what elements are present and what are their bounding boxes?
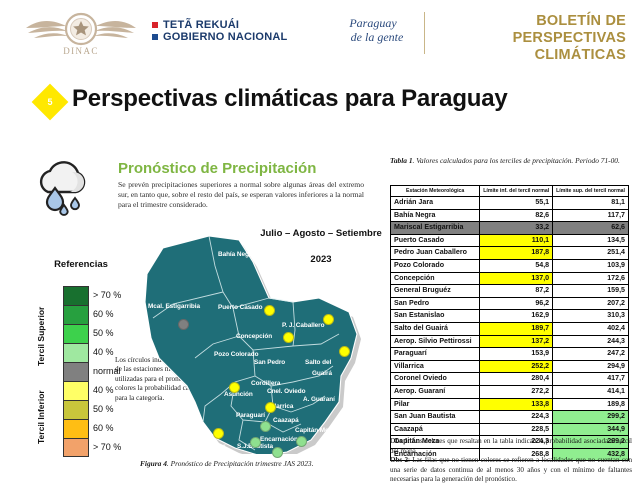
map-label-5: Concepción (236, 333, 272, 340)
flag-square-red-icon (152, 22, 158, 28)
cell-station: Pilar (391, 398, 480, 411)
map-label-17: Capitán Meza (295, 427, 335, 434)
forecast-body-text: Se prevén precipitaciones superiores a n… (118, 180, 364, 211)
legend-swatch-8 (63, 438, 89, 457)
table-row: Coronel Oviedo280,4417,7 (391, 373, 629, 386)
cell-upper-limit: 81,1 (553, 197, 629, 210)
map-label-1: Bahía Negra (218, 251, 255, 258)
cell-lower-limit: 137,2 (480, 335, 553, 348)
table-row: Pozo Colorado54,8103,9 (391, 259, 629, 272)
legend-swatch-3 (63, 343, 89, 362)
cell-lower-limit: 162,9 (480, 310, 553, 323)
table-row: Concepción137,0172,6 (391, 272, 629, 285)
cell-station: Aerop. Guaraní (391, 385, 480, 398)
map-label-10: Cordillera (251, 380, 280, 387)
cell-lower-limit: 252,2 (480, 360, 553, 373)
table-header-row: Estación Meteorológica Límite inf. del t… (391, 186, 629, 197)
cell-upper-limit: 344,9 (553, 423, 629, 436)
cell-station: Adrián Jara (391, 197, 480, 210)
cell-upper-limit: 251,4 (553, 247, 629, 260)
map-station-dot-4 (229, 382, 240, 393)
obs2-label: Obs 2 (390, 456, 408, 464)
legend-label-7: 60 % (93, 419, 121, 438)
cell-station: San Juan Bautista (391, 411, 480, 424)
cell-lower-limit: 228,5 (480, 423, 553, 436)
column-header-station: Estación Meteorológica (391, 186, 480, 197)
tercile-values-table: Estación Meteorológica Límite inf. del t… (390, 185, 629, 461)
column-header-upper-limit: Límite sup. del tercil normal (553, 186, 629, 197)
gov-line-1: TETÃ REKUÁI (163, 19, 239, 31)
table-caption-prefix: Tabla 1 (390, 156, 413, 165)
table-row: San Estanislao162,9310,3 (391, 310, 629, 323)
map-station-dot-1 (323, 314, 334, 325)
obs2-text: : Las filas que no tienen colores se ref… (390, 456, 632, 483)
cell-station: General Bruguéz (391, 285, 480, 298)
legend-label-2: 50 % (93, 324, 121, 343)
map-label-19: Pilar (212, 443, 226, 450)
legend-swatch-0 (63, 286, 89, 305)
dinac-logo: DINAC (18, 6, 144, 64)
map-label-2: Mcal. Estigarribia (148, 303, 200, 310)
cell-upper-limit: 299,2 (553, 411, 629, 424)
cell-upper-limit: 244,3 (553, 335, 629, 348)
table-caption: Tabla 1. Valores calculados para los ter… (390, 156, 632, 166)
cell-lower-limit: 133,8 (480, 398, 553, 411)
table-row: Adrián Jara55,181,1 (391, 197, 629, 210)
cell-station: Pedro Juan Caballero (391, 247, 480, 260)
figure-caption: Figura 4. Pronóstico de Precipitación tr… (140, 459, 390, 468)
map-label-12: Asunción (224, 391, 253, 398)
cell-upper-limit: 62,6 (553, 222, 629, 235)
map-label-16: Caazapá (273, 417, 299, 424)
map-label-3: Puerto Casado (218, 304, 262, 311)
cell-station: San Pedro (391, 297, 480, 310)
cell-station: San Estanislao (391, 310, 480, 323)
brand-line-2: de la gente (330, 30, 416, 44)
legend-swatch-column (63, 286, 89, 457)
table-row: Puerto Casado110,1134,5 (391, 234, 629, 247)
map-station-dot-10 (272, 447, 283, 458)
map-label-8: Salto del (305, 359, 331, 366)
cell-upper-limit: 134,5 (553, 234, 629, 247)
cell-station: Mariscal Estigarribia (391, 222, 480, 235)
table-caption-text: . Valores calculados para los terciles d… (413, 156, 620, 165)
section-title-row: 5 Perspectivas climáticas para Paraguay (0, 84, 633, 120)
cell-upper-limit: 159,5 (553, 285, 629, 298)
table-row: Pilar133,8189,8 (391, 398, 629, 411)
map-label-4: P. J. Caballero (282, 322, 324, 329)
map-station-dot-11 (178, 319, 189, 330)
cell-station: Paraguarí (391, 348, 480, 361)
column-header-lower-limit: Límite inf. del tercil normal (480, 186, 553, 197)
cell-station: Puerto Casado (391, 234, 480, 247)
table-row: Villarrica252,2294,9 (391, 360, 629, 373)
dinac-logo-text: DINAC (18, 46, 144, 56)
cell-station: Aerop. Silvio Pettirossi (391, 335, 480, 348)
cell-station: Caazapá (391, 423, 480, 436)
cell-upper-limit: 417,7 (553, 373, 629, 386)
cell-station: Villarrica (391, 360, 480, 373)
table-observations: Obs 1: Los colores que resaltan en la ta… (390, 437, 632, 485)
map-station-dot-9 (250, 437, 261, 448)
cell-lower-limit: 55,1 (480, 197, 553, 210)
section-badge-number: 5 (37, 89, 63, 115)
figure-caption-prefix: Figura 4 (140, 459, 167, 468)
flag-square-blue-icon (152, 34, 158, 40)
legend-swatch-2 (63, 324, 89, 343)
cell-upper-limit: 189,8 (553, 398, 629, 411)
header-divider (424, 12, 425, 54)
table-row: Paraguarí153,9247,2 (391, 348, 629, 361)
map-label-15: Paraguarí (236, 412, 265, 419)
page-header: DINAC TETÃ REKUÁI GOBIERNO NACIONAL Para… (0, 0, 633, 68)
legend-label-8: > 70 % (93, 438, 121, 457)
cell-lower-limit: 187,8 (480, 247, 553, 260)
cell-station: Salto del Guairá (391, 322, 480, 335)
map-label-13: A. Guaraní (303, 396, 335, 403)
forecast-heading: Pronóstico de Precipitación (118, 160, 316, 177)
obs1-label: Obs 1 (390, 437, 408, 445)
legend-label-0: > 70 % (93, 286, 121, 305)
cell-station: Concepción (391, 272, 480, 285)
map-label-9: Guairá (312, 370, 332, 377)
cell-station: Bahía Negra (391, 209, 480, 222)
map-station-dot-7 (260, 421, 271, 432)
cell-upper-limit: 414,1 (553, 385, 629, 398)
map-label-6: Pozo Colorado (214, 351, 258, 358)
cell-lower-limit: 272,2 (480, 385, 553, 398)
paraguay-forecast-map: Adrián JaraBahía NegraMcal. Estigarribia… (140, 222, 375, 454)
cell-lower-limit: 82,6 (480, 209, 553, 222)
table-row: Salto del Guairá189,7402,4 (391, 322, 629, 335)
cell-lower-limit: 96,2 (480, 297, 553, 310)
cell-upper-limit: 207,2 (553, 297, 629, 310)
gov-line-2: GOBIERNO NACIONAL (163, 31, 287, 43)
figure-caption-text: . Pronóstico de Precipitación trimestre … (167, 459, 314, 468)
table-row: Pedro Juan Caballero187,8251,4 (391, 247, 629, 260)
map-station-dot-3 (339, 346, 350, 357)
legend-group-upper: Tercil Superior (36, 307, 46, 366)
legend-swatch-4 (63, 362, 89, 381)
cell-upper-limit: 103,9 (553, 259, 629, 272)
cell-station: Pozo Colorado (391, 259, 480, 272)
obs1-text: : Los colores que resaltan en la tabla i… (390, 437, 632, 455)
table-row: General Bruguéz87,2159,5 (391, 285, 629, 298)
legend-group-lower: Tercil Inferior (36, 390, 46, 444)
cell-lower-limit: 153,9 (480, 348, 553, 361)
table-row: Mariscal Estigarribia33,262,6 (391, 222, 629, 235)
page-title: Perspectivas climáticas para Paraguay (72, 85, 508, 113)
cell-lower-limit: 137,0 (480, 272, 553, 285)
cell-lower-limit: 33,2 (480, 222, 553, 235)
map-station-dot-5 (265, 402, 276, 413)
cell-lower-limit: 224,3 (480, 411, 553, 424)
cell-upper-limit: 172,6 (553, 272, 629, 285)
cell-station: Coronel Oviedo (391, 373, 480, 386)
map-label-0: Adrián Jara (200, 226, 235, 233)
legend-title: Referencias (38, 259, 124, 270)
bulletin-title: BOLETÍN DE PERSPECTIVAS CLIMÁTICAS (430, 13, 626, 64)
rain-cloud-icon (28, 158, 104, 222)
cell-lower-limit: 280,4 (480, 373, 553, 386)
table-row: Aerop. Guaraní272,2414,1 (391, 385, 629, 398)
cell-upper-limit: 247,2 (553, 348, 629, 361)
table-row: Caazapá228,5344,9 (391, 423, 629, 436)
map-label-7: San Pedro (254, 359, 285, 366)
cell-lower-limit: 87,2 (480, 285, 553, 298)
cell-upper-limit: 117,7 (553, 209, 629, 222)
cell-upper-limit: 294,9 (553, 360, 629, 373)
legend-label-1: 60 % (93, 305, 121, 324)
map-station-dot-2 (283, 332, 294, 343)
cell-lower-limit: 189,7 (480, 322, 553, 335)
paraguay-brand: Paraguay de la gente (330, 16, 416, 44)
map-label-18: Encarnación (260, 436, 298, 443)
table-row: San Juan Bautista224,3299,2 (391, 411, 629, 424)
table-row: Aerop. Silvio Pettirossi137,2244,3 (391, 335, 629, 348)
cell-upper-limit: 402,4 (553, 322, 629, 335)
legend-swatch-6 (63, 400, 89, 419)
map-label-11: Cnel. Oviedo (267, 388, 305, 395)
legend-swatch-5 (63, 381, 89, 400)
legend-swatch-7 (63, 419, 89, 438)
table-row: San Pedro96,2207,2 (391, 297, 629, 310)
legend-swatch-1 (63, 305, 89, 324)
brand-line-1: Paraguay (330, 16, 416, 30)
map-station-dot-0 (264, 305, 275, 316)
map-station-dot-6 (213, 428, 224, 439)
cell-lower-limit: 110,1 (480, 234, 553, 247)
cell-lower-limit: 54,8 (480, 259, 553, 272)
government-logo: TETÃ REKUÁI GOBIERNO NACIONAL (152, 19, 287, 43)
map-station-dot-8 (296, 436, 307, 447)
table-row: Bahía Negra82,6117,7 (391, 209, 629, 222)
cell-upper-limit: 310,3 (553, 310, 629, 323)
